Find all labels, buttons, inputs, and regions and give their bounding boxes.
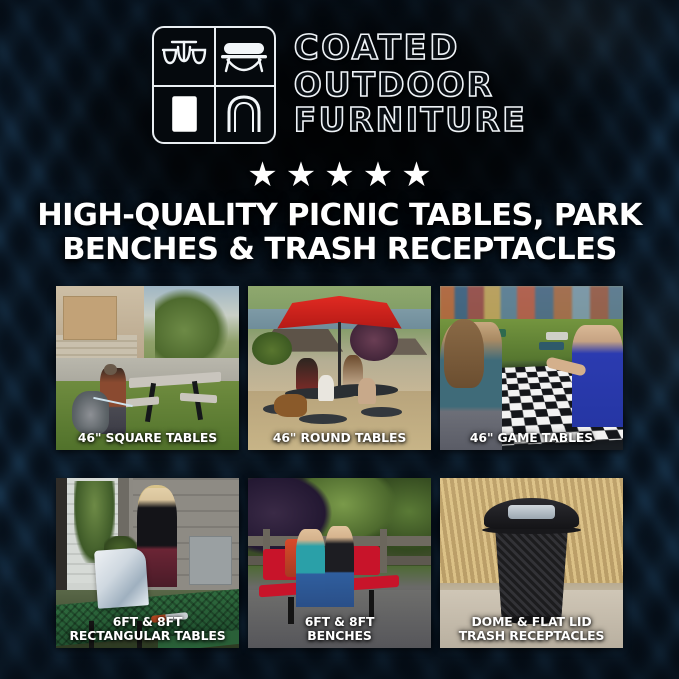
product-caption: 6FT & 8FT BENCHES	[252, 615, 427, 642]
arch-bench-icon	[214, 85, 274, 142]
star-icon-4: ★	[363, 158, 393, 192]
product-caption: 6FT & 8FT RECTANGULAR TABLES	[60, 615, 235, 642]
promo-banner: COATED OUTDOOR FURNITURE ★ ★ ★ ★ ★ HIGH-…	[0, 0, 679, 679]
bench-icon	[214, 28, 274, 85]
product-tile-game-tables[interactable]: 46" GAME TABLES	[440, 286, 623, 450]
product-tile-rectangular-tables[interactable]: 6FT & 8FT RECTANGULAR TABLES	[56, 478, 239, 648]
brand-logo: COATED OUTDOOR FURNITURE	[0, 26, 679, 144]
brand-word-outdoor: OUTDOOR	[294, 68, 494, 102]
brand-word-furniture: FURNITURE	[294, 103, 528, 137]
brand-word-coated: COATED	[294, 31, 460, 66]
headline-line-2: BENCHES & TRASH RECEPTACLES	[24, 233, 655, 267]
brand-wordmark: COATED OUTDOOR FURNITURE	[294, 31, 528, 139]
product-caption: DOME & FLAT LID TRASH RECEPTACLES	[444, 615, 619, 642]
picnic-table-icon	[154, 28, 214, 85]
furniture-grid-icon	[152, 26, 276, 144]
headline: HIGH-QUALITY PICNIC TABLES, PARK BENCHES…	[24, 199, 655, 267]
product-tile-benches[interactable]: 6FT & 8FT BENCHES	[248, 478, 431, 648]
trash-can-icon	[154, 85, 214, 142]
star-icon-1: ★	[247, 158, 277, 192]
product-grid: 46" SQUARE TABLES 46" ROUND TABLES	[56, 286, 623, 648]
product-caption: 46" SQUARE TABLES	[60, 431, 235, 444]
product-tile-trash-receptacles[interactable]: DOME & FLAT LID TRASH RECEPTACLES	[440, 478, 623, 648]
headline-line-1: HIGH-QUALITY PICNIC TABLES, PARK	[24, 199, 655, 233]
product-caption: 46" GAME TABLES	[444, 431, 619, 444]
product-caption: 46" ROUND TABLES	[252, 431, 427, 444]
product-tile-square-tables[interactable]: 46" SQUARE TABLES	[56, 286, 239, 450]
product-tile-round-tables[interactable]: 46" ROUND TABLES	[248, 286, 431, 450]
product-photo-game-tables	[440, 286, 623, 450]
star-icon-3: ★	[324, 158, 354, 192]
star-rating: ★ ★ ★ ★ ★	[0, 158, 679, 192]
star-icon-2: ★	[286, 158, 316, 192]
product-photo-square-tables	[56, 286, 239, 450]
product-photo-round-tables	[248, 286, 431, 450]
star-icon-5: ★	[401, 158, 431, 192]
banner-content: COATED OUTDOOR FURNITURE ★ ★ ★ ★ ★ HIGH-…	[0, 0, 679, 679]
